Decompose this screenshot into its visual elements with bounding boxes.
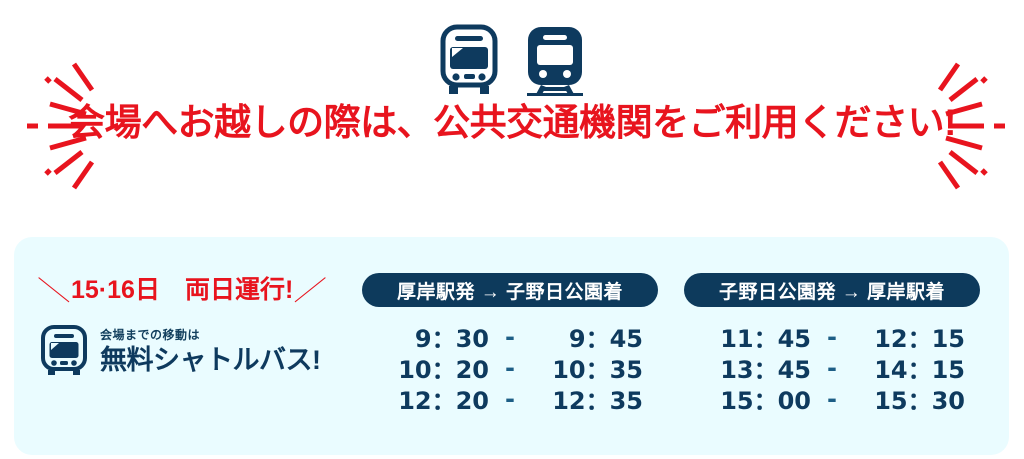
route-timetables: 厚岸駅発 → 子野日公園着 9：30 - 9：45 10：20 - 10：35 … <box>362 273 980 414</box>
operating-days-text: 15·16日 両日運行! <box>71 270 293 306</box>
arrive-time: 12：35 <box>531 381 643 416</box>
table-row: 9：30 - 9：45 <box>362 321 658 352</box>
table-row: 11：45 - 12：15 <box>684 321 980 352</box>
arrive-time: 9：45 <box>531 319 643 354</box>
arrive-time: 14：15 <box>853 350 965 385</box>
table-row: 12：20 - 12：35 <box>362 383 658 414</box>
range-dash: - <box>489 385 531 413</box>
range-dash: - <box>811 354 853 382</box>
route-column-outbound: 厚岸駅発 → 子野日公園着 9：30 - 9：45 10：20 - 10：35 … <box>362 273 658 414</box>
range-dash: - <box>489 323 531 351</box>
depart-time: 13：45 <box>699 350 811 385</box>
train-icon <box>524 24 586 101</box>
depart-time: 15：00 <box>699 381 811 416</box>
depart-time: 10：20 <box>377 350 489 385</box>
table-row: 10：20 - 10：35 <box>362 352 658 383</box>
shuttle-title: 無料シャトルバス! <box>100 345 321 376</box>
range-dash: - <box>811 323 853 351</box>
page-title: 会場へお越しの際は、公共交通機関をご利用ください! <box>0 102 1024 145</box>
free-shuttle-block: 会場までの移動は 無料シャトルバス! <box>40 325 360 380</box>
slash-right-decoration: ／ <box>292 269 329 308</box>
shuttle-caption: 会場までの移動は <box>100 329 321 342</box>
slash-left-decoration: ＼ <box>35 269 72 308</box>
timetable-outbound: 9：30 - 9：45 10：20 - 10：35 12：20 - 12：35 <box>362 321 658 414</box>
range-dash: - <box>811 385 853 413</box>
table-row: 15：00 - 15：30 <box>684 383 980 414</box>
hero-section: 会場へお越しの際は、公共交通機関をご利用ください! <box>0 0 1024 215</box>
route-title-outbound: 厚岸駅発 → 子野日公園着 <box>362 273 658 307</box>
arrive-time: 15：30 <box>853 381 965 416</box>
depart-time: 9：30 <box>377 319 489 354</box>
shuttle-summary: ＼ 15·16日 両日運行! ／ <box>40 271 360 380</box>
hero-transport-icons <box>0 24 1024 100</box>
shuttle-info-panel: ＼ 15·16日 両日運行! ／ <box>14 237 1009 455</box>
depart-time: 11：45 <box>699 319 811 354</box>
route-title-return: 子野日公園発 → 厚岸駅着 <box>684 273 980 307</box>
arrive-time: 12：15 <box>853 319 965 354</box>
arrive-time: 10：35 <box>531 350 643 385</box>
range-dash: - <box>489 354 531 382</box>
bus-icon <box>40 325 88 380</box>
depart-time: 12：20 <box>377 381 489 416</box>
operating-days-badge: ＼ 15·16日 両日運行! ／ <box>40 271 360 305</box>
bus-icon <box>438 24 500 101</box>
table-row: 13：45 - 14：15 <box>684 352 980 383</box>
timetable-return: 11：45 - 12：15 13：45 - 14：15 15：00 - 15：3… <box>684 321 980 414</box>
route-column-return: 子野日公園発 → 厚岸駅着 11：45 - 12：15 13：45 - 14：1… <box>684 273 980 414</box>
